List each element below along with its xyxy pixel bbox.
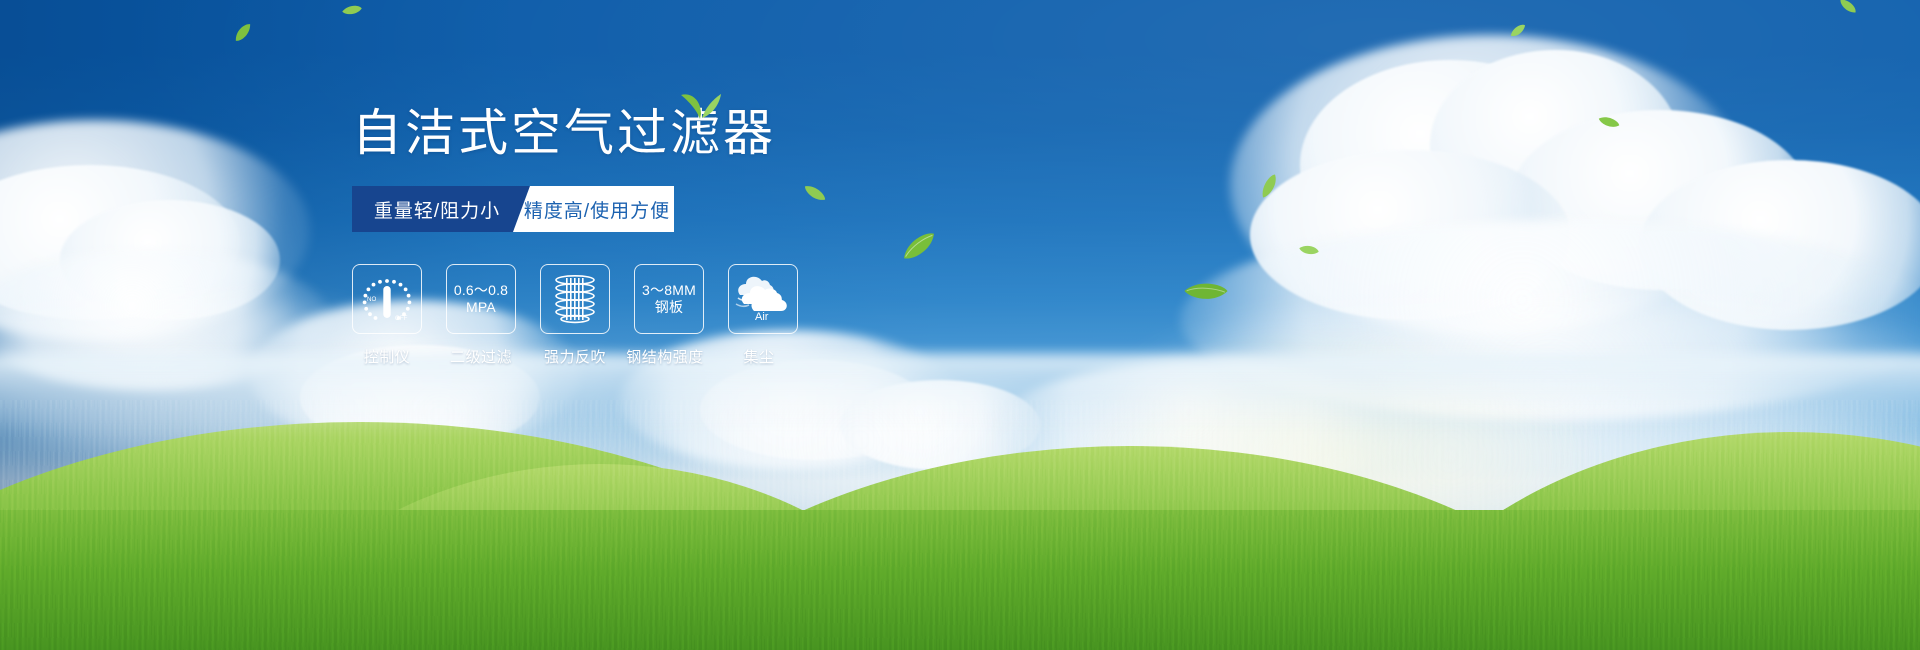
title-leaf-icon [680, 90, 722, 125]
feature-icon-box: 0.6〜0.8 MPA [446, 264, 516, 334]
ground-mist [0, 354, 1920, 434]
pressure-range: 0.6〜0.8 [454, 282, 508, 299]
pressure-unit: MPA [454, 299, 508, 316]
tag-secondary-label: 精度高/使用方便 [524, 196, 670, 223]
steel-material: 钢板 [642, 299, 696, 316]
pressure-text-icon: 0.6〜0.8 MPA [454, 282, 508, 316]
air-cloud-icon: Air [734, 276, 792, 322]
tag-primary-label: 重量轻/阻力小 [374, 196, 500, 223]
feature-label: 控制仪 [352, 346, 422, 367]
feature-item: NO OFF 控制仪 [352, 264, 422, 367]
steel-plate-text-icon: 3〜8MM 钢板 [642, 282, 696, 316]
feature-label: 二级过滤 [446, 346, 516, 367]
grass-ground [0, 360, 1920, 650]
steel-thickness: 3〜8MM [642, 282, 696, 299]
filter-cartridge-icon [547, 273, 603, 325]
tag-primary: 重量轻/阻力小 [352, 186, 530, 232]
air-label: Air [755, 311, 769, 322]
product-banner: 自洁式空气过滤器 重量轻/阻力小 精度高/使用方便 [0, 0, 1920, 650]
feature-tag-strip: 重量轻/阻力小 精度高/使用方便 [352, 186, 674, 232]
feature-icon-box [540, 264, 610, 334]
feature-label: 钢结构强度 [626, 346, 704, 367]
grass-texture [0, 400, 1920, 650]
feature-item: 3〜8MM 钢板 钢结构强度 [634, 264, 704, 367]
dial-on-label: NO [367, 296, 376, 303]
feature-list: NO OFF 控制仪 0.6〜0.8 MPA 二级过滤 [352, 264, 872, 367]
banner-content: 自洁式空气过滤器 重量轻/阻力小 精度高/使用方便 [352, 108, 872, 367]
feature-item: 强力反吹 [540, 264, 610, 367]
feature-label: 强力反吹 [540, 346, 610, 367]
feature-label: 集尘 [720, 346, 798, 367]
dial-off-label: OFF [395, 315, 408, 322]
tag-secondary: 精度高/使用方便 [506, 186, 674, 232]
feature-icon-box: 3〜8MM 钢板 [634, 264, 704, 334]
feature-icon-box: Air [728, 264, 798, 334]
feature-item: 0.6〜0.8 MPA 二级过滤 [446, 264, 516, 367]
control-dial-icon: NO OFF [358, 273, 416, 325]
feature-item: Air 集尘 [728, 264, 798, 367]
feature-icon-box: NO OFF [352, 264, 422, 334]
page-title: 自洁式空气过滤器 [352, 108, 872, 158]
